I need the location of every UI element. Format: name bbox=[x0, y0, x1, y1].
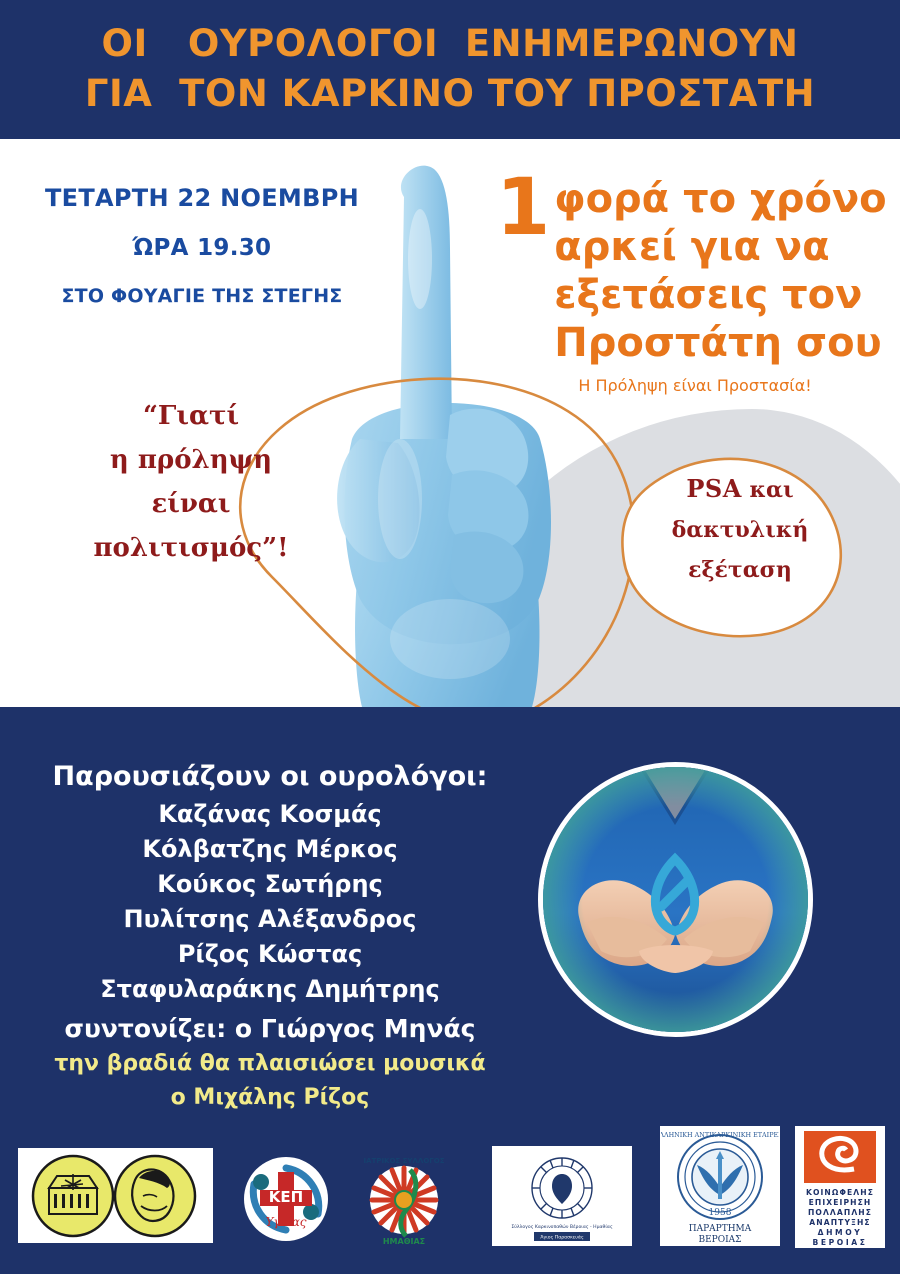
kep-sub-text: Υγείας bbox=[265, 1215, 306, 1229]
eae-caption-line2: ΒΕΡΟΙΑΣ bbox=[698, 1235, 741, 1245]
koin-line1: ΚΟΙΝΩΦΕΛΗΣ bbox=[806, 1188, 874, 1197]
isi-bottom-text: ΗΜΑΘΙΑΣ bbox=[383, 1237, 425, 1246]
sponsor-logo-strip: ΚΕΠ Υγείας ΙΑΤΡΙΚΟΣ Σ bbox=[0, 1118, 900, 1258]
poster-header: ΟΙ ΟΥΡΟΛΟΓΟΙ ΕΝΗΜΕΡΩΝΟΥΝ ΓΙΑ ΤΟΝ ΚΑΡΚΙΝΟ… bbox=[0, 0, 900, 137]
moderator-line: συντονίζει: ο Γιώργος Μηνάς bbox=[30, 1009, 510, 1049]
event-time: ΏΡΑ 19.30 bbox=[42, 231, 362, 265]
syl-badge-text: Άγιος Παρασκευάς bbox=[540, 1234, 584, 1241]
logo-koinofelis-epicheirisi: ΚΟΙΝΩΦΕΛΗΣ ΕΠΙΧΕΙΡΗΣΗ ΠΟΛΛΑΠΛΗΣ ΑΝΑΠΤΥΞΗ… bbox=[795, 1126, 885, 1248]
logo-iatrikos-syllogos-imathias: ΙΑΤΡΙΚΟΣ ΣΥΛΛΟΓΟΣ ΗΜΑΘΙΑΣ bbox=[354, 1154, 454, 1246]
headline-block: 1 φορά το χρόνο αρκεί για να εξετάσεις τ… bbox=[496, 175, 896, 397]
music-line1: την βραδιά θα πλαισιώσει μουσικά bbox=[30, 1047, 510, 1081]
koin-line3: ΠΟΛΛΑΠΛΗΣ bbox=[808, 1208, 872, 1217]
header-title-line1: ΟΙ ΟΥΡΟΛΟΓΟΙ ΕΝΗΜΕΡΩΝΟΥΝ bbox=[102, 19, 799, 69]
event-venue: ΣΤΟ ΦΟΥΑΓΙΕ ΤΗΣ ΣΤΕΓΗΣ bbox=[42, 281, 362, 311]
syl-caption-text: Σύλλογος Καρκινοπαθών Βέροιας - Ημαθίας bbox=[511, 1223, 613, 1230]
music-credit-block: την βραδιά θα πλαισιώσει μουσικά ο Μιχάλ… bbox=[30, 1047, 510, 1115]
headline-subtitle: Η Πρόληψη είναι Προστασία! bbox=[510, 375, 880, 397]
presenter-name: Κούκος Σωτήρης bbox=[30, 867, 510, 902]
psa-line3: εξέταση bbox=[640, 550, 840, 590]
koin-line5: ΔΗΜΟΥ bbox=[818, 1228, 863, 1237]
headline-line2: αρκεί για να bbox=[554, 223, 886, 271]
koin-line6: ΒΕΡΟΙΑΣ bbox=[812, 1238, 867, 1247]
koin-line4: ΑΝΑΠΤΥΞΗΣ bbox=[809, 1218, 870, 1227]
psa-line1-rest: και bbox=[742, 477, 794, 503]
presenter-name: Κόλβατζης Μέρκος bbox=[30, 832, 510, 867]
ribbon-photo bbox=[538, 762, 813, 1037]
event-date: ΤΕΤΑΡΤΗ 22 ΝΟΕΜΒΡΗ bbox=[42, 181, 362, 215]
event-details: ΤΕΤΑΡΤΗ 22 ΝΟΕΜΒΡΗ ΏΡΑ 19.30 ΣΤΟ ΦΟΥΑΓΙΕ… bbox=[42, 181, 362, 311]
psa-abbreviation: PSA bbox=[686, 474, 742, 503]
headline-line1: φορά το χρόνο bbox=[554, 175, 886, 223]
presenter-name: Πυλίτσης Αλέξανδρος bbox=[30, 902, 510, 937]
isi-top-text: ΙΑΤΡΙΚΟΣ ΣΥΛΛΟΓΟΣ bbox=[364, 1157, 445, 1165]
logo-elliniki-antikarkiniki-etaireia: ΕΛΛΗΝΙΚΗ ΑΝΤΙΚΑΡΚΙΝΙΚΗ ΕΤΑΙΡΕΙΑ 1958 ΠΑΡ… bbox=[660, 1126, 780, 1246]
eae-ring-text: ΕΛΛΗΝΙΚΗ ΑΝΤΙΚΑΡΚΙΝΙΚΗ ΕΤΑΙΡΕΙΑ bbox=[661, 1131, 779, 1139]
headline-line3: εξετάσεις τον bbox=[554, 271, 886, 319]
poster-root: ΟΙ ΟΥΡΟΛΟΓΟΙ ΕΝΗΜΕΡΩΝΟΥΝ ΓΙΑ ΤΟΝ ΚΑΡΚΙΝΟ… bbox=[0, 0, 900, 1274]
main-white-panel: ΤΕΤΑΡΤΗ 22 ΝΟΕΜΒΡΗ ΏΡΑ 19.30 ΣΤΟ ΦΟΥΑΓΙΕ… bbox=[0, 139, 900, 707]
headline-number: 1 bbox=[496, 181, 550, 235]
music-line2: ο Μιχάλης Ρίζος bbox=[30, 1081, 510, 1115]
culture-quote: “Γιατί η πρόληψη είναι πολιτισμός”! bbox=[66, 394, 316, 570]
logo-dimos-verias bbox=[18, 1148, 213, 1243]
psa-bubble-text: PSA και δακτυλική εξέταση bbox=[640, 469, 840, 590]
header-title-line2: ΓΙΑ ΤΟΝ ΚΑΡΚΙΝΟ ΤΟΥ ΠΡΟΣΤΑΤΗ bbox=[85, 69, 815, 119]
presenters-title: Παρουσιάζουν οι ουρολόγοι: bbox=[30, 757, 510, 797]
eae-year-text: 1958 bbox=[709, 1208, 732, 1218]
presenters-block: Παρουσιάζουν οι ουρολόγοι: Καζάνας Κοσμά… bbox=[30, 757, 510, 1049]
kep-abbr-text: ΚΕΠ bbox=[269, 1188, 303, 1206]
logo-kep-ygeias: ΚΕΠ Υγείας bbox=[236, 1154, 336, 1244]
headline-line4: Προστάτη σου bbox=[554, 319, 886, 367]
presenter-name: Καζάνας Κοσμάς bbox=[30, 797, 510, 832]
presenter-name: Σταφυλαράκης Δημήτρης bbox=[30, 972, 510, 1007]
quote-line4: πολιτισμός”! bbox=[66, 526, 316, 570]
quote-line3: είναι bbox=[66, 482, 316, 526]
koin-line2: ΕΠΙΧΕΙΡΗΣΗ bbox=[809, 1198, 872, 1207]
quote-line1: “Γιατί bbox=[66, 394, 316, 438]
quote-line2: η πρόληψη bbox=[66, 438, 316, 482]
psa-line2: δακτυλική bbox=[640, 510, 840, 550]
eae-caption-line1: ΠΑΡΑΡΤΗΜΑ bbox=[689, 1224, 752, 1234]
logo-syllogos-karkinopathon: Σύλλογος Καρκινοπαθών Βέροιας - Ημαθίας … bbox=[492, 1146, 632, 1246]
presenter-name: Ρίζος Κώστας bbox=[30, 937, 510, 972]
